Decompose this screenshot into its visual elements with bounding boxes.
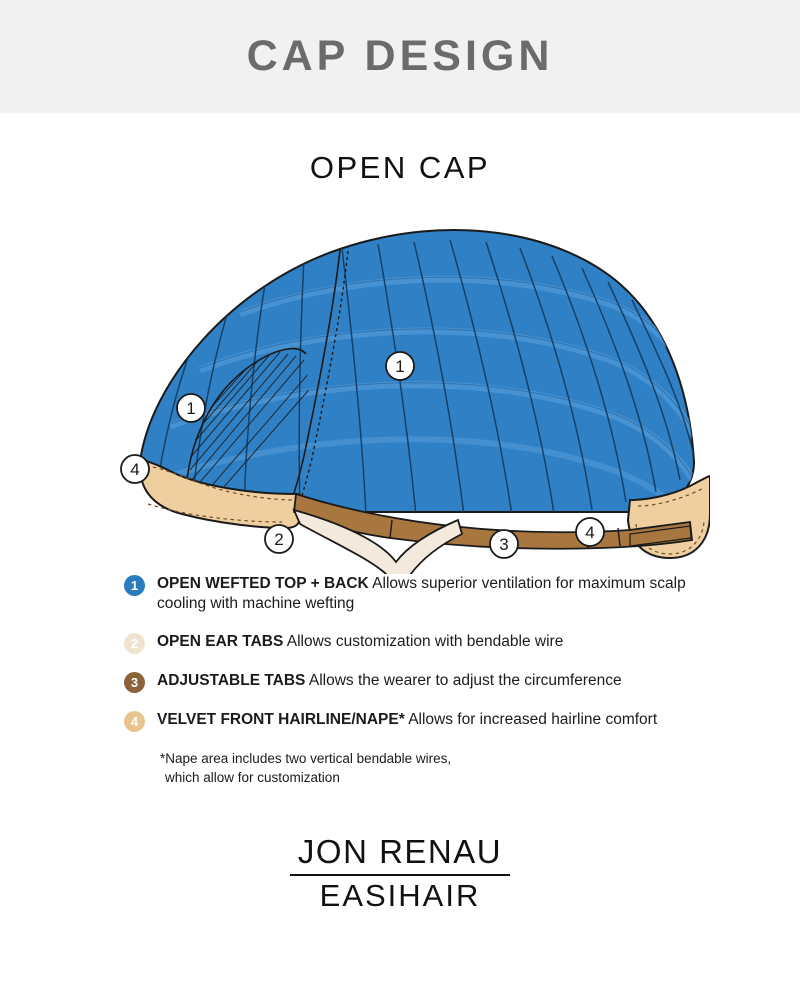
- svg-text:4: 4: [585, 523, 594, 542]
- legend-item-3: 3 ADJUSTABLE TABS Allows the wearer to a…: [124, 671, 800, 693]
- legend-text-1: OPEN WEFTED TOP + BACK Allows superior v…: [157, 574, 702, 615]
- legend-text-4: VELVET FRONT HAIRLINE/NAPE* Allows for i…: [157, 710, 657, 730]
- legend-item-4: 4 VELVET FRONT HAIRLINE/NAPE* Allows for…: [124, 710, 800, 732]
- callout-2-ear-tab: 2: [265, 525, 293, 553]
- svg-text:1: 1: [186, 399, 195, 418]
- legend-badge-4: 4: [124, 711, 145, 732]
- legend-item-1: 1 OPEN WEFTED TOP + BACK Allows superior…: [124, 574, 800, 615]
- footnote-line-1: *Nape area includes two vertical bendabl…: [160, 749, 800, 769]
- legend-badge-3: 3: [124, 672, 145, 693]
- legend-badge-1: 1: [124, 575, 145, 596]
- legend-text-2: OPEN EAR TABS Allows customization with …: [157, 632, 563, 652]
- legend-desc-4: Allows for increased hairline comfort: [408, 711, 657, 728]
- legend-desc-2: Allows customization with bendable wire: [287, 633, 564, 650]
- footnote-line-2: which allow for customization: [160, 768, 800, 788]
- svg-text:3: 3: [499, 535, 508, 554]
- callout-1-crown: 1: [386, 352, 414, 380]
- subtitle-container: OPEN CAP: [0, 150, 800, 186]
- cap-diagram-container: 1 1 4 2 3 4: [0, 194, 800, 574]
- legend-list: 1 OPEN WEFTED TOP + BACK Allows superior…: [0, 574, 800, 732]
- svg-text:4: 4: [130, 460, 139, 479]
- legend-item-2: 2 OPEN EAR TABS Allows customization wit…: [124, 632, 800, 654]
- brand-footer: JON RENAU EASIHAIR: [0, 834, 800, 914]
- legend-badge-2: 2: [124, 633, 145, 654]
- legend-text-3: ADJUSTABLE TABS Allows the wearer to adj…: [157, 671, 622, 691]
- svg-text:1: 1: [395, 357, 404, 376]
- callout-1-side: 1: [177, 394, 205, 422]
- legend-title-4: VELVET FRONT HAIRLINE/NAPE*: [157, 711, 405, 728]
- brand-divider: [290, 874, 510, 876]
- callout-4-front-hairline: 4: [121, 455, 149, 483]
- footnote: *Nape area includes two vertical bendabl…: [0, 749, 800, 788]
- callout-4-nape: 4: [576, 518, 604, 546]
- legend-desc-3: Allows the wearer to adjust the circumfe…: [309, 672, 622, 689]
- legend-title-1: OPEN WEFTED TOP + BACK: [157, 575, 369, 592]
- brand-subname: EASIHAIR: [0, 879, 800, 914]
- callout-3-adjustable-tab: 3: [490, 530, 518, 558]
- svg-text:2: 2: [274, 530, 283, 549]
- page-header: CAP DESIGN: [0, 0, 800, 113]
- brand-name: JON RENAU: [0, 834, 800, 871]
- cap-type-subtitle: OPEN CAP: [310, 150, 490, 185]
- legend-title-2: OPEN EAR TABS: [157, 633, 283, 650]
- legend-title-3: ADJUSTABLE TABS: [157, 672, 305, 689]
- open-cap-illustration: 1 1 4 2 3 4: [90, 194, 710, 574]
- page-title: CAP DESIGN: [247, 35, 554, 78]
